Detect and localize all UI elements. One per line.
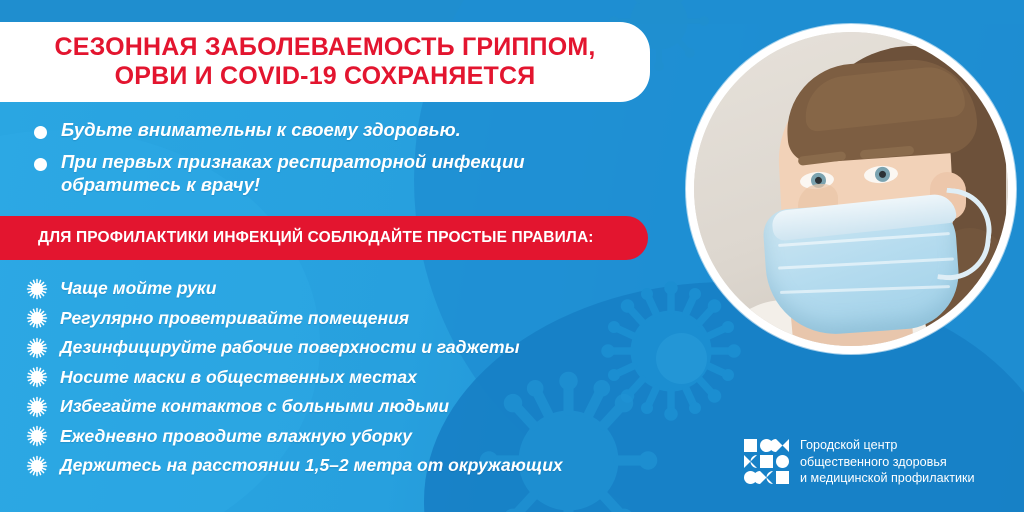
intro-bullet-text: При первых признаках респираторной инфек… bbox=[61, 150, 624, 197]
logo-line-1: Городской центр bbox=[800, 437, 975, 454]
rule-text: Ежедневно проводите влажную уборку bbox=[60, 428, 412, 446]
title-line-1: СЕЗОННАЯ ЗАБОЛЕВАЕМОСТЬ ГРИППОМ, bbox=[54, 33, 595, 63]
list-item: Дезинфицируйте рабочие поверхности и гад… bbox=[26, 333, 626, 363]
virus-bullet-icon bbox=[26, 425, 48, 447]
bullet-dot-icon bbox=[34, 158, 47, 171]
logo-line-2: общественного здоровья bbox=[800, 454, 975, 471]
virus-bullet-icon bbox=[26, 337, 48, 359]
list-item: Держитесь на расстоянии 1,5–2 метра от о… bbox=[26, 451, 626, 481]
title-line-2: ОРВИ И COVID-19 СОХРАНЯЕТСЯ bbox=[54, 62, 595, 92]
organization-logo: Городской центр общественного здоровья и… bbox=[744, 437, 975, 487]
list-item: Чаще мойте руки bbox=[26, 274, 626, 304]
rules-banner: ДЛЯ ПРОФИЛАКТИКИ ИНФЕКЦИЙ СОБЛЮДАЙТЕ ПРО… bbox=[0, 216, 648, 260]
virus-bullet-icon bbox=[26, 307, 48, 329]
list-item: Носите маски в общественных местах bbox=[26, 363, 626, 393]
list-item: Будьте внимательны к своему здоровью. bbox=[34, 118, 624, 142]
organization-logo-text: Городской центр общественного здоровья и… bbox=[800, 437, 975, 487]
rule-text: Держитесь на расстоянии 1,5–2 метра от о… bbox=[60, 457, 563, 475]
virus-bullet-icon bbox=[26, 396, 48, 418]
virus-bullet-icon bbox=[26, 278, 48, 300]
virus-bullet-icon bbox=[26, 366, 48, 388]
list-item: При первых признаках респираторной инфек… bbox=[34, 150, 624, 197]
list-item: Избегайте контактов с больными людьми bbox=[26, 392, 626, 422]
bullet-dot-icon bbox=[34, 126, 47, 139]
infographic-poster: СЕЗОННАЯ ЗАБОЛЕВАЕМОСТЬ ГРИППОМ, ОРВИ И … bbox=[0, 0, 1024, 512]
title-card: СЕЗОННАЯ ЗАБОЛЕВАЕМОСТЬ ГРИППОМ, ОРВИ И … bbox=[0, 22, 650, 102]
rules-banner-text: ДЛЯ ПРОФИЛАКТИКИ ИНФЕКЦИЙ СОБЛЮДАЙТЕ ПРО… bbox=[0, 229, 594, 247]
intro-bullet-text: Будьте внимательны к своему здоровью. bbox=[61, 118, 461, 142]
rule-text: Дезинфицируйте рабочие поверхности и гад… bbox=[60, 339, 520, 357]
rule-text: Избегайте контактов с больными людьми bbox=[60, 398, 449, 416]
page-title: СЕЗОННАЯ ЗАБОЛЕВАЕМОСТЬ ГРИППОМ, ОРВИ И … bbox=[14, 33, 595, 92]
nine-square-grid-logo-icon bbox=[744, 439, 789, 484]
rule-text: Носите маски в общественных местах bbox=[60, 369, 417, 387]
intro-bullet-list: Будьте внимательны к своему здоровью. Пр… bbox=[34, 118, 624, 205]
list-item: Ежедневно проводите влажную уборку bbox=[26, 422, 626, 452]
list-item: Регулярно проветривайте помещения bbox=[26, 304, 626, 334]
rule-text: Регулярно проветривайте помещения bbox=[60, 310, 409, 328]
rule-text: Чаще мойте руки bbox=[60, 280, 216, 298]
photo-girl-in-mask bbox=[694, 32, 1008, 346]
rules-list: Чаще мойте руки Регулярно проветривайте … bbox=[26, 274, 626, 481]
virus-bullet-icon bbox=[26, 455, 48, 477]
logo-line-3: и медицинской профилактики bbox=[800, 470, 975, 487]
